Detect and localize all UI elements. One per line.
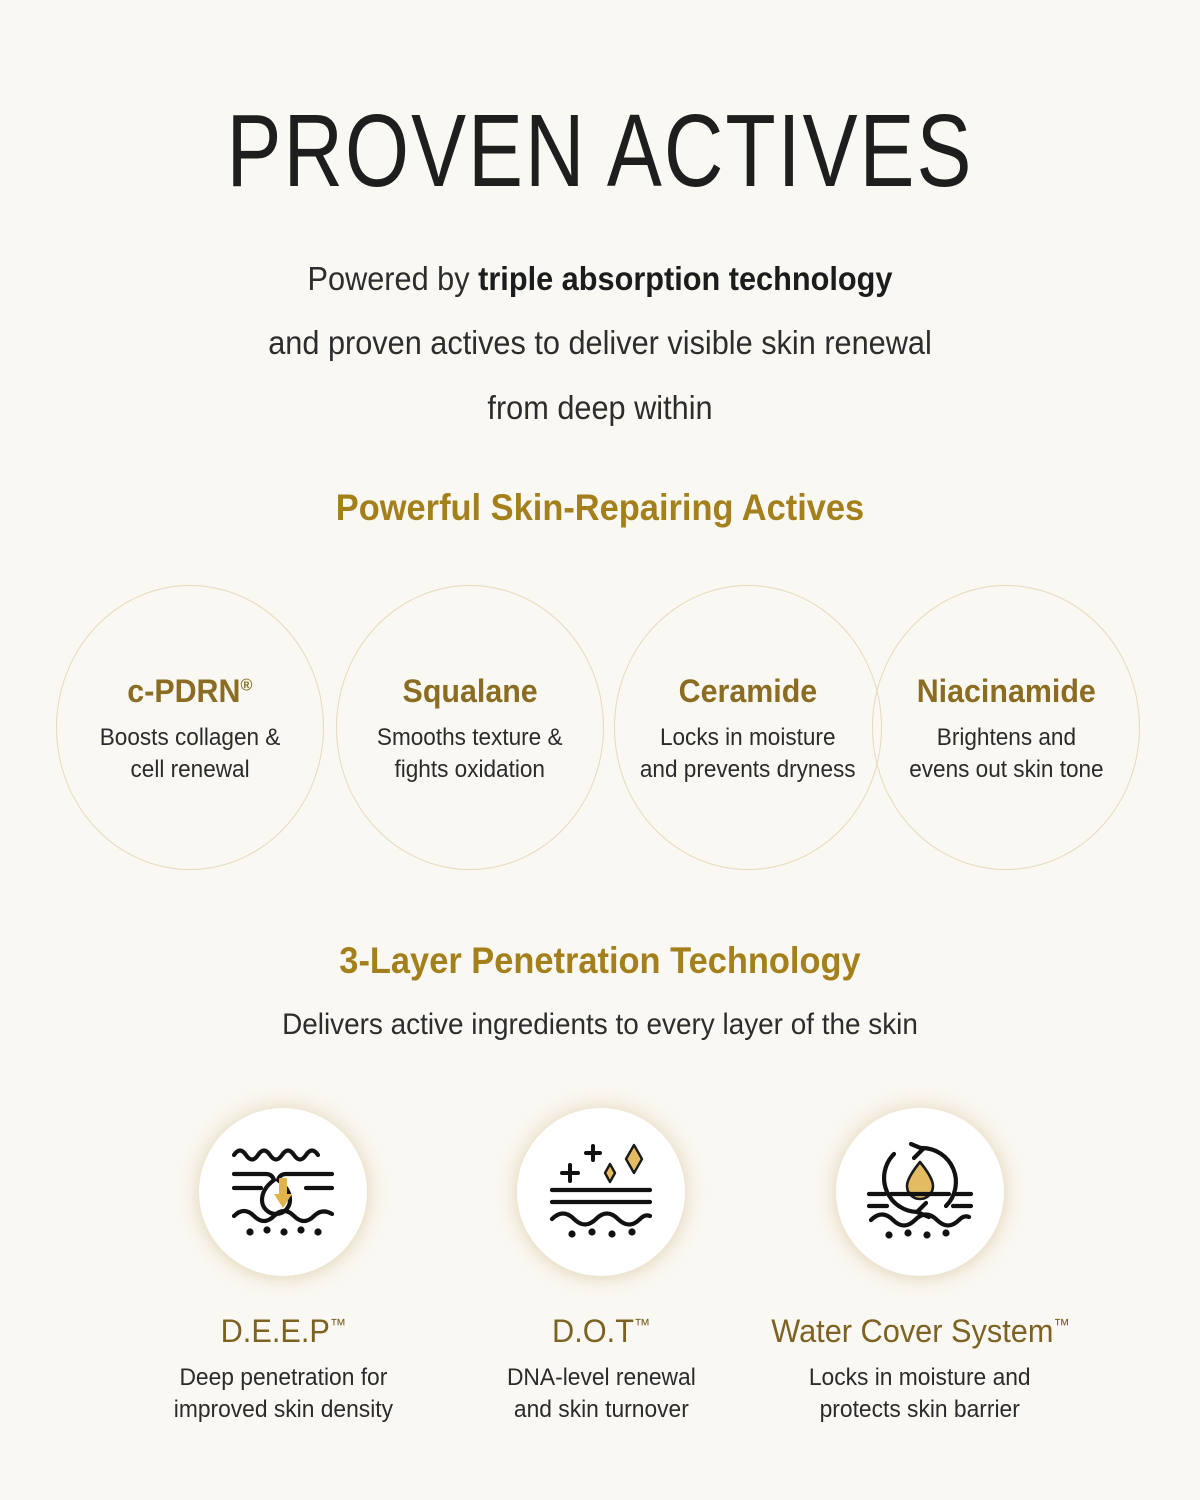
moisture-cycle-droplet-icon [865,1140,975,1244]
actives-section-heading: Powerful Skin-Repairing Actives [42,487,1158,529]
active-description-line-2: and prevents dryness [640,754,856,786]
technology-name-text: Water Cover System [771,1313,1053,1349]
technology-description-line-1: Locks in moisture and [809,1362,1031,1394]
skin-sparkle-renewal-icon [546,1140,656,1244]
icon-badge [836,1108,1004,1276]
active-description: Boosts collagen & cell renewal [100,722,281,785]
hero-subtitle-line-1: Powered by triple absorption technology [42,247,1158,311]
technology-name-text: D.O.T [552,1313,634,1349]
active-circle-niacinamide: Niacinamide Brightens and evens out skin… [872,585,1140,870]
technology-name: D.E.E.P™ [220,1313,346,1350]
technology-description: DNA-level renewal and skin turnover [507,1362,696,1427]
active-description: Brightens and evens out skin tone [909,722,1103,785]
active-name: c-PDRN® [127,673,252,710]
hero-subtitle-line-1-prefix: Powered by [308,260,479,297]
technology-item-dot: D.O.T™ DNA-level renewal and skin turnov… [431,1108,771,1427]
diamond-sparkle-glyph [605,1145,642,1182]
active-description-line-1: Boosts collagen & [100,722,281,754]
technology-description: Locks in moisture and protects skin barr… [809,1362,1031,1427]
technology-item-group: D.E.E.P™ Deep penetration for improved s… [0,1108,1200,1448]
technology-description: Deep penetration for improved skin densi… [173,1362,392,1427]
icon-badge [199,1108,367,1276]
technology-item-water-cover-system: Water Cover System™ Locks in moisture an… [750,1108,1090,1427]
page-title: PROVEN ACTIVES [120,97,1080,205]
active-name: Ceramide [679,673,818,710]
dot-row [885,1229,949,1238]
actives-circle-group: c-PDRN® Boosts collagen & cell renewal S… [0,585,1200,875]
technology-description-line-2: protects skin barrier [809,1394,1031,1426]
dot-row [246,1226,321,1235]
technology-description-line-1: DNA-level renewal [507,1362,696,1394]
technology-section-heading: 3-Layer Penetration Technology [42,940,1158,982]
technology-description-line-2: and skin turnover [507,1394,696,1426]
technology-item-deep: D.E.E.P™ Deep penetration for improved s… [113,1108,453,1427]
technology-description-line-1: Deep penetration for [173,1362,392,1394]
active-description-line-1: Smooths texture & [377,722,563,754]
hero-subtitle: Powered by triple absorption technology … [42,247,1158,440]
plus-sparkle-glyph [562,1146,600,1181]
hero-subtitle-line-3: from deep within [42,376,1158,440]
registered-mark: ® [241,676,253,695]
active-name-text: Ceramide [679,673,818,709]
hero-subtitle-emphasis: triple absorption technology [478,260,892,297]
technology-name: Water Cover System™ [771,1313,1070,1350]
active-description-line-2: fights oxidation [377,754,563,786]
active-description: Smooths texture & fights oxidation [377,722,563,785]
technology-name: D.O.T™ [552,1313,650,1350]
technology-description-line-2: improved skin density [173,1394,392,1426]
active-description: Locks in moisture and prevents dryness [640,722,856,785]
active-circle-c-pdrn: c-PDRN® Boosts collagen & cell renewal [56,585,324,870]
trademark-mark: ™ [1053,1315,1069,1334]
active-name: Squalane [402,673,537,710]
icon-badge [517,1108,685,1276]
active-name-text: Squalane [402,673,537,709]
trademark-mark: ™ [634,1315,650,1334]
active-description-line-1: Locks in moisture [640,722,856,754]
technology-section-subheading: Delivers active ingredients to every lay… [42,1008,1158,1042]
technology-name-text: D.E.E.P [220,1313,329,1349]
active-description-line-1: Brightens and [909,722,1103,754]
infographic-page: PROVEN ACTIVES Powered by triple absorpt… [0,0,1200,1500]
active-circle-ceramide: Ceramide Locks in moisture and prevents … [614,585,882,870]
hero-subtitle-line-2: and proven actives to deliver visible sk… [42,311,1158,375]
skin-pore-absorption-icon [228,1140,338,1244]
trademark-mark: ™ [329,1315,345,1334]
active-name-text: Niacinamide [916,673,1095,709]
active-description-line-2: evens out skin tone [909,754,1103,786]
active-description-line-2: cell renewal [100,754,281,786]
active-name-text: c-PDRN [127,673,240,709]
dot-row [568,1228,635,1237]
active-name: Niacinamide [916,673,1095,710]
active-circle-squalane: Squalane Smooths texture & fights oxidat… [336,585,604,870]
